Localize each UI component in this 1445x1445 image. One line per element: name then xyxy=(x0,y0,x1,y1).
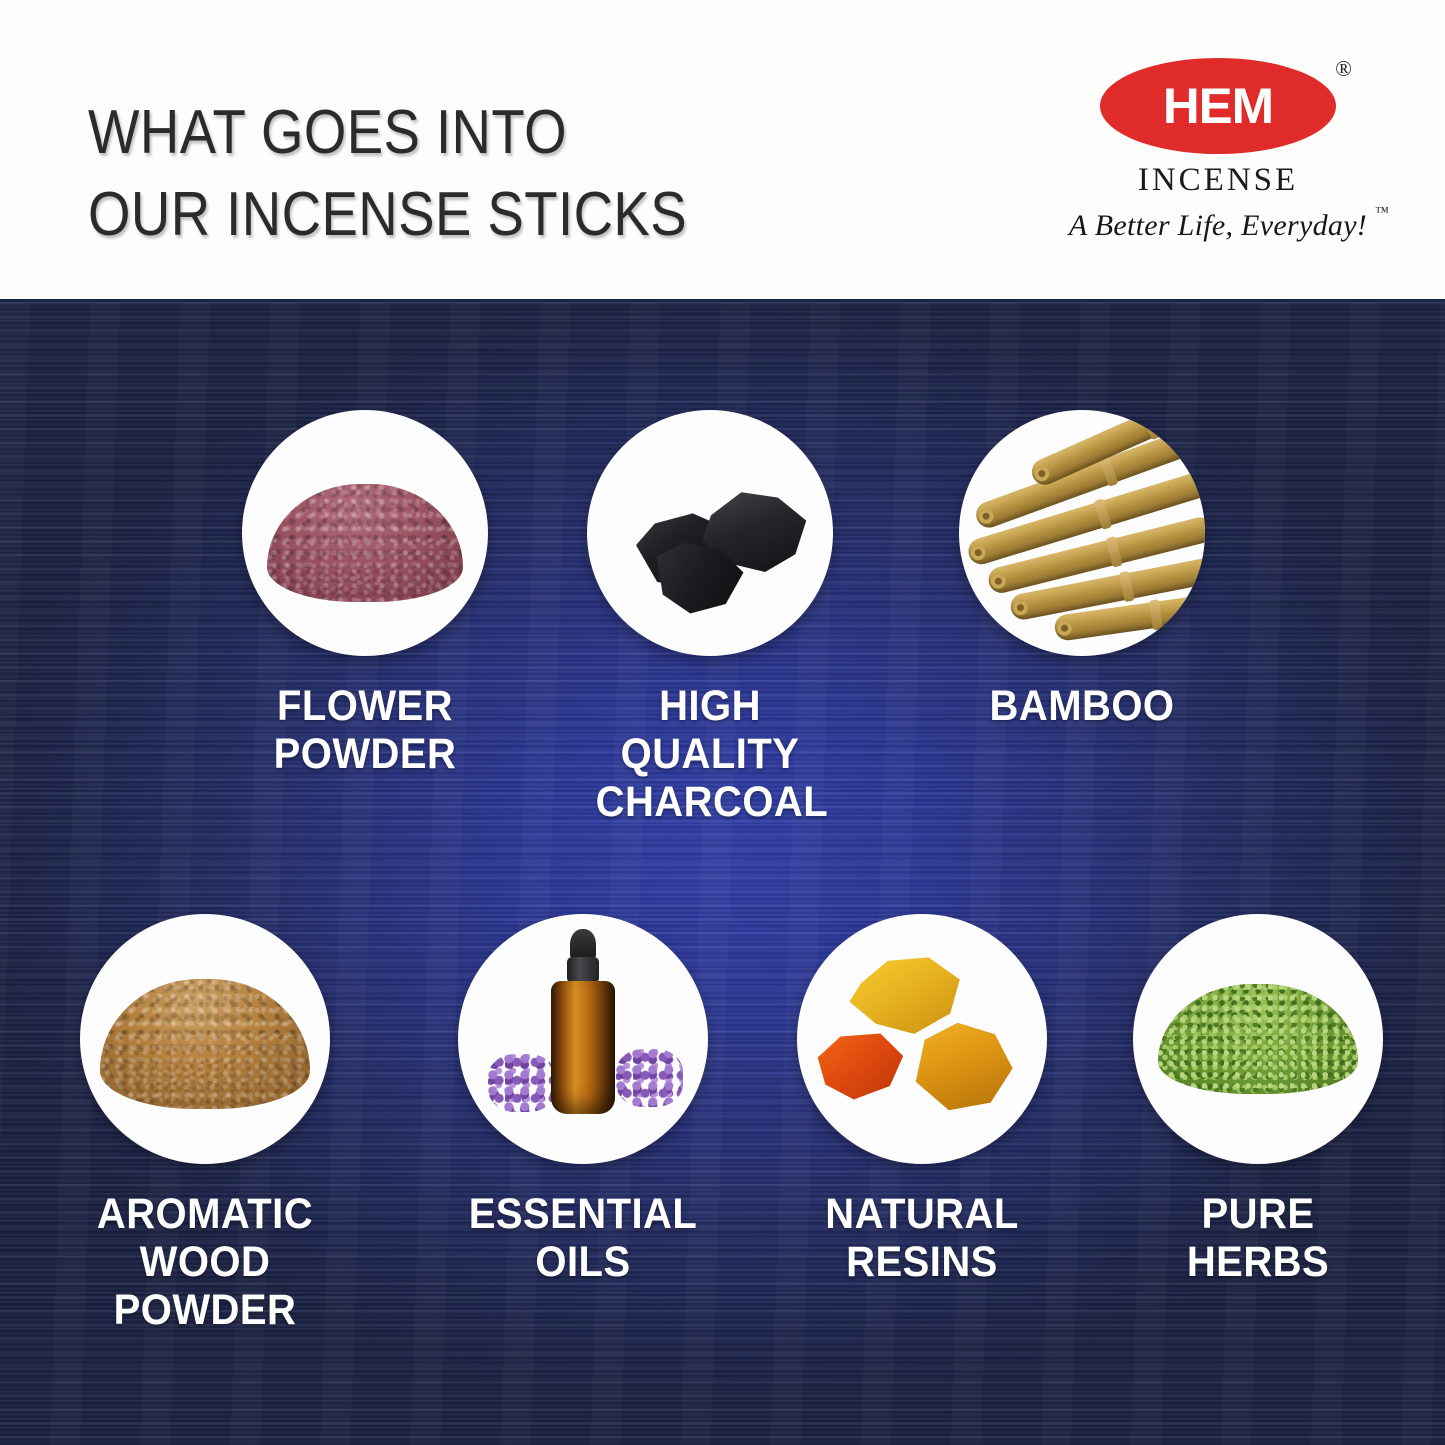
logo-tagline: A Better Life, Everyday! ™ xyxy=(1069,209,1367,243)
flower-powder-disc xyxy=(242,410,488,656)
charcoal-disc xyxy=(587,410,833,656)
ingredient-pure-herbs: PURE HERBS xyxy=(1133,914,1383,1286)
dropper-bottle-lavender-icon xyxy=(458,914,708,1164)
ingredient-aromatic-wood-powder: AROMATIC WOOD POWDER xyxy=(80,914,330,1334)
ingredient-essential-oils: ESSENTIAL OILS xyxy=(458,914,708,1286)
bamboo-canes-icon xyxy=(959,410,1205,656)
hem-brand-logo: HEM ® INCENSE A Better Life, Everyday! ™ xyxy=(1053,58,1383,243)
ingredient-label: NATURAL RESINS xyxy=(806,1190,1039,1286)
ingredient-high-quality-charcoal: HIGH QUALITY CHARCOAL xyxy=(587,410,833,826)
essential-oils-disc xyxy=(458,914,708,1164)
lavender-sprig-right xyxy=(616,1049,684,1107)
wood-powder-mound-icon xyxy=(80,914,330,1164)
ingredient-label: ESSENTIAL OILS xyxy=(467,1190,700,1286)
logo-tagline-text: A Better Life, Everyday! xyxy=(1069,209,1367,242)
logo-category-text: INCENSE xyxy=(1053,162,1383,199)
dried-green-herbs-icon xyxy=(1133,914,1383,1164)
ingredient-flower-powder: FLOWER POWDER xyxy=(242,410,488,778)
ingredient-bamboo: BAMBOO xyxy=(959,410,1205,730)
lavender-sprig-left xyxy=(488,1054,556,1112)
bamboo-disc xyxy=(959,410,1205,656)
ingredient-label: PURE HERBS xyxy=(1142,1190,1375,1286)
ingredient-natural-resins: NATURAL RESINS xyxy=(797,914,1047,1286)
ingredients-board: FLOWER POWDER HIGH QUALITY CHARCOAL xyxy=(0,302,1445,1445)
flower-powder-mound-icon xyxy=(242,410,488,656)
ingredient-label: HIGH QUALITY CHARCOAL xyxy=(596,682,825,826)
ingredient-label: AROMATIC WOOD POWDER xyxy=(89,1190,322,1334)
pure-herbs-disc xyxy=(1133,914,1383,1164)
incense-ingredients-infographic: WHAT GOES INTO OUR INCENSE STICKS HEM ® … xyxy=(0,0,1445,1445)
ingredient-label: FLOWER POWDER xyxy=(251,682,480,778)
trademark-icon: ™ xyxy=(1375,205,1389,221)
charcoal-chunks-icon xyxy=(587,410,833,656)
logo-badge: HEM ® xyxy=(1100,58,1336,154)
dropper-bottle xyxy=(561,929,606,1114)
logo-brand-text: HEM xyxy=(1098,58,1339,154)
ingredient-label: BAMBOO xyxy=(968,682,1197,730)
header-bar: WHAT GOES INTO OUR INCENSE STICKS HEM ® … xyxy=(0,0,1445,302)
page-title: WHAT GOES INTO OUR INCENSE STICKS xyxy=(88,92,862,256)
amber-resin-chunks-icon xyxy=(797,914,1047,1164)
wood-powder-disc xyxy=(80,914,330,1164)
natural-resins-disc xyxy=(797,914,1047,1164)
registered-trademark-icon: ® xyxy=(1335,56,1352,82)
